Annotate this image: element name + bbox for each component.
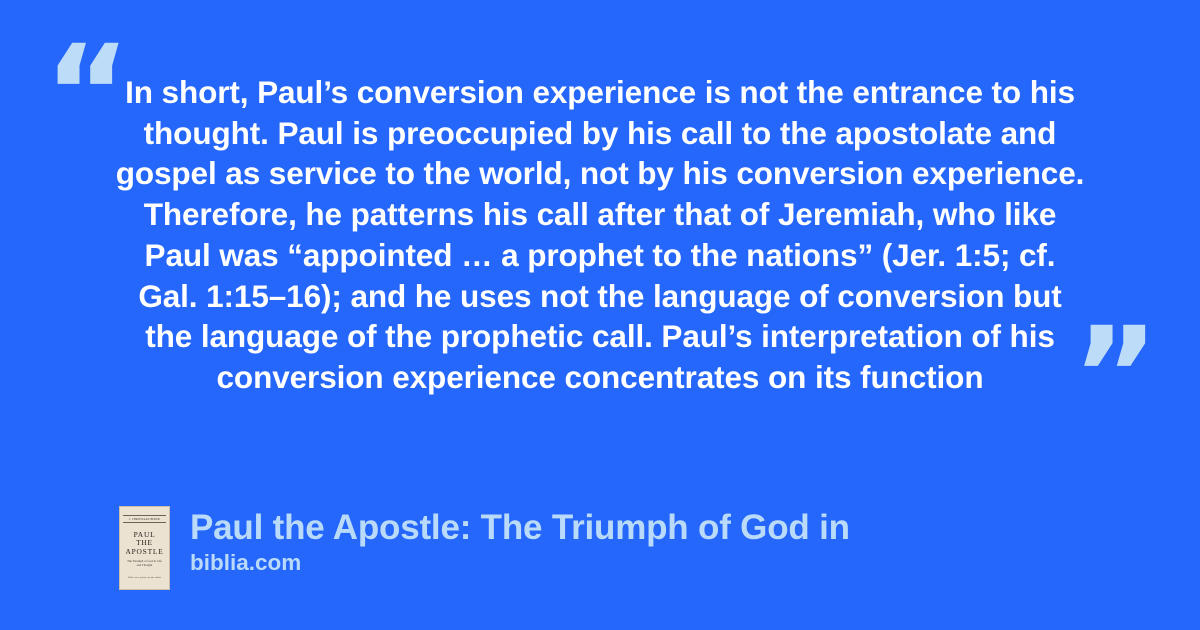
source-attribution: J. CHRISTIAAN BEKER PAUL THE APOSTLE The…	[119, 506, 850, 590]
source-text-block: Paul the Apostle: The Triumph of God in …	[190, 506, 850, 576]
book-cover-subtitle-line: and Thought	[127, 563, 162, 567]
quote-line: Therefore, he patterns his call after th…	[108, 194, 1092, 235]
quote-line: thought. Paul is preoccupied by his call…	[108, 113, 1092, 154]
book-cover-title: PAUL THE APOSTLE	[125, 531, 163, 556]
book-cover-subtitle: The Triumph of God in Life and Thought	[125, 559, 164, 567]
book-cover-title-line: APOSTLE	[125, 548, 163, 556]
quote-card: “ In short, Paul’s conversion experience…	[0, 0, 1200, 630]
source-title: Paul the Apostle: The Triumph of God in	[190, 508, 850, 548]
book-cover-footnote: With a new preface by the author	[128, 576, 161, 579]
book-cover-thumbnail: J. CHRISTIAAN BEKER PAUL THE APOSTLE The…	[119, 506, 170, 590]
quote-line: Paul was “appointed … a prophet to the n…	[108, 235, 1092, 276]
quote-line: Gal. 1:15–16); and he uses not the langu…	[108, 276, 1092, 317]
quote-text-block: In short, Paul’s conversion experience i…	[108, 72, 1092, 398]
quote-line: conversion experience concentrates on it…	[108, 357, 1092, 398]
quote-line: gospel as service to the world, not by h…	[108, 153, 1092, 194]
book-cover-series: J. CHRISTIAAN BEKER	[123, 515, 166, 523]
quote-line: In short, Paul’s conversion experience i…	[108, 72, 1092, 113]
close-quote-icon: ”	[1072, 310, 1159, 442]
quote-line: the language of the prophetic call. Paul…	[108, 316, 1092, 357]
source-domain: biblia.com	[190, 550, 850, 576]
